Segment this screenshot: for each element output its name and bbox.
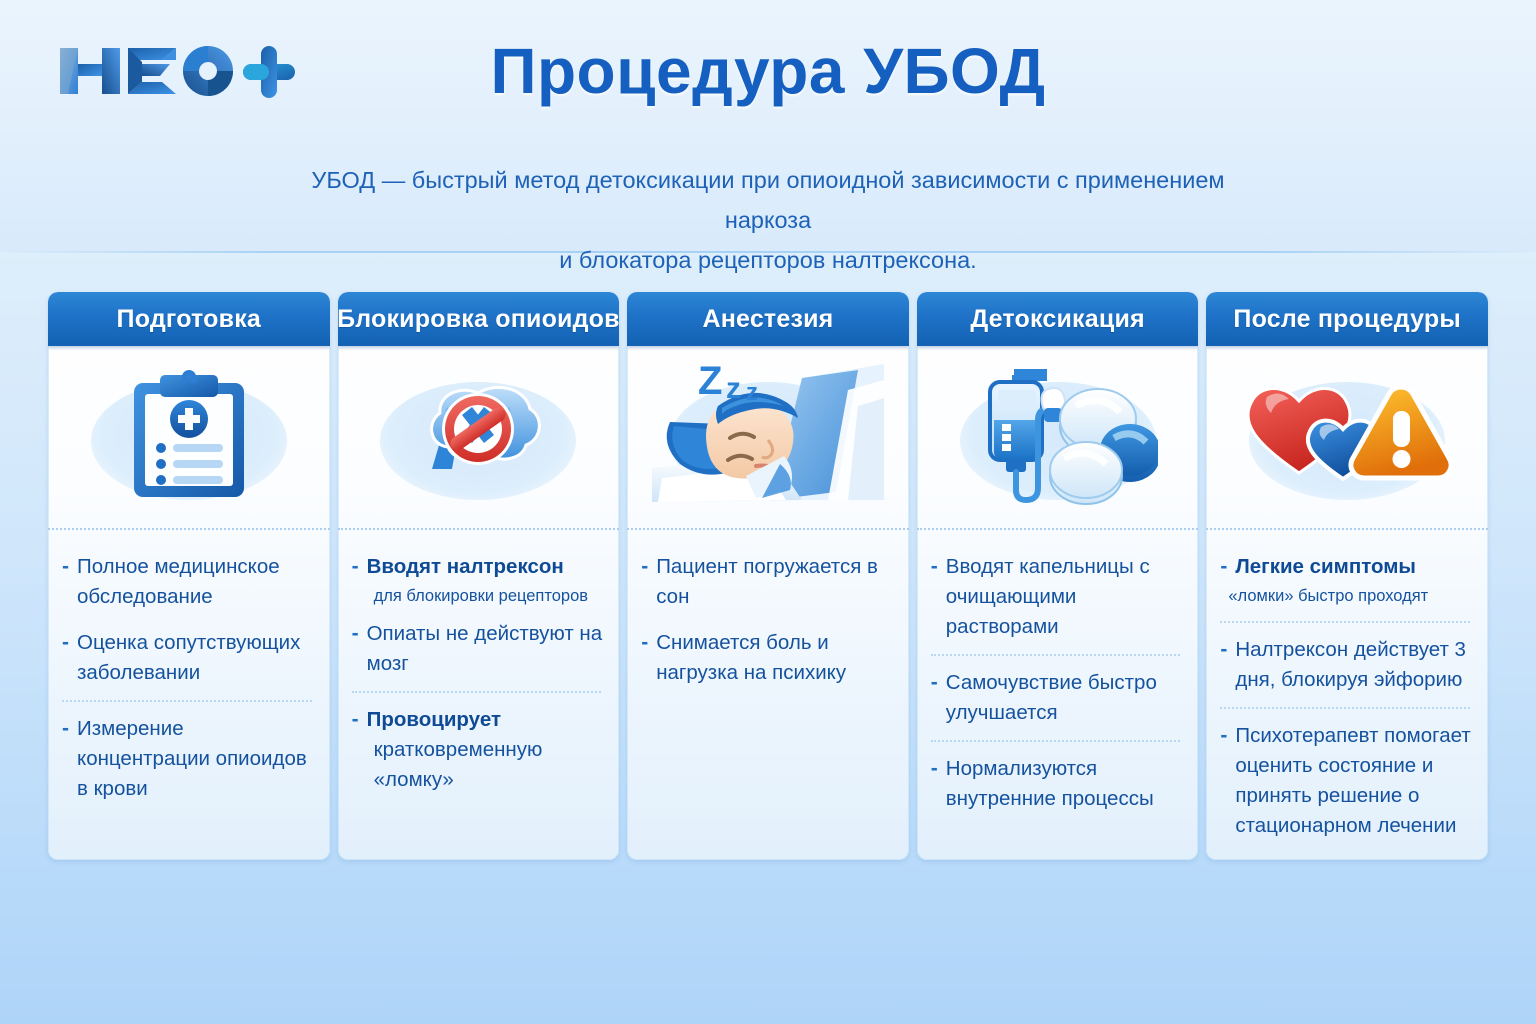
list-item: - Самочувствие быстро улучшается: [931, 668, 1183, 728]
list-item-label: Легкие симптомы: [1235, 552, 1416, 582]
bullet-dash: -: [352, 619, 359, 649]
list-item: - Вводят налтрексон: [352, 552, 604, 582]
spacer: [62, 612, 314, 628]
card-header-detoksikaciya: Детоксикация: [917, 292, 1199, 346]
svg-text:z: z: [746, 379, 758, 406]
bullet-dash: -: [62, 552, 69, 582]
list-item-subtext: для блокировки рецепторов: [374, 583, 604, 609]
card-anesteziya[interactable]: Анестезия: [627, 292, 909, 860]
card-header-posle-procedury: После процедуры: [1206, 292, 1488, 346]
card-title: Подготовка: [117, 305, 261, 334]
card-podgotovka[interactable]: Подготовка: [48, 292, 330, 860]
list-item: - Пациент погружается в сон: [641, 552, 893, 612]
list-item: - Снимается боль и нагрузка на психику: [641, 628, 893, 688]
list-item-label: Опиаты не действуют на мозг: [367, 619, 604, 679]
clipboard-medical-icon: [130, 369, 248, 506]
spacer: [641, 612, 893, 628]
item-separator: [931, 654, 1181, 656]
card-body-detoksikaciya: - Вводят капельницы с очищающими раствор…: [917, 530, 1199, 860]
bullet-dash: -: [1220, 635, 1227, 665]
list-item-label: Самочувствие быстро улучшается: [946, 668, 1183, 728]
list-item: - Опиаты не действуют на мозг: [352, 619, 604, 679]
card-title: После процедуры: [1233, 305, 1461, 334]
subtitle-line-1: УБОД — быстрый метод детоксикации при оп…: [268, 160, 1268, 240]
item-separator: [352, 691, 602, 693]
list-item-label: Психотерапевт помогает оценить состояние…: [1235, 721, 1472, 841]
card-body-blokirovka: - Вводят налтрексон для блокировки рецеп…: [338, 530, 620, 860]
item-separator: [931, 740, 1181, 742]
page-subtitle: УБОД — быстрый метод детоксикации при оп…: [268, 160, 1268, 280]
list-item-label: Вводят налтрексон: [367, 552, 564, 582]
list-item: - Налтрексон действует 3 дня, блокируя э…: [1220, 635, 1472, 695]
list-item-label: Оценка сопутствующих заболевании: [77, 628, 314, 688]
card-icon-area: [1206, 346, 1488, 528]
card-title: Анестезия: [703, 305, 834, 334]
list-item: - Вводят капельницы с очищающими раствор…: [931, 552, 1183, 642]
card-posle-procedury[interactable]: После процедуры: [1206, 292, 1488, 860]
svg-text:z: z: [726, 372, 741, 405]
bullet-dash: -: [352, 705, 359, 735]
bullet-dash: -: [1220, 552, 1227, 582]
bullet-dash: -: [62, 714, 69, 744]
list-item: - Полное медицинское обследование: [62, 552, 314, 612]
card-icon-area: [48, 346, 330, 528]
item-separator: [62, 700, 312, 702]
card-header-blokirovka: Блокировка опиоидов: [338, 292, 620, 346]
card-icon-area: [917, 346, 1199, 528]
card-title: Детоксикация: [970, 305, 1144, 334]
zzz-label: Z: [698, 360, 722, 403]
item-separator: [1220, 621, 1470, 623]
list-item-label: Провоцирует: [367, 705, 501, 735]
stage-cards-row: Подготовка: [48, 292, 1488, 860]
list-item-label: Нормализуются внутренние процессы: [946, 754, 1183, 814]
card-detoksikaciya[interactable]: Детоксикация: [917, 292, 1199, 860]
list-item-label: Налтрексон действует 3 дня, блокируя эйф…: [1235, 635, 1472, 695]
hearts-warning-icon: [1239, 371, 1455, 504]
card-blokirovka-opioidov[interactable]: Блокировка опиоидов: [338, 292, 620, 860]
bullet-dash: -: [931, 552, 938, 582]
bullet-dash: -: [641, 628, 648, 658]
card-icon-area: Z z z: [627, 346, 909, 528]
list-item: - Оценка сопутствующих заболевании: [62, 628, 314, 688]
list-item-label: Пациент погружается в сон: [656, 552, 893, 612]
bullet-dash: -: [62, 628, 69, 658]
list-item-label: Вводят капельницы с очищающими растворам…: [946, 552, 1183, 642]
list-item: - Легкие симптомы: [1220, 552, 1472, 582]
brain-blocked-icon: [394, 369, 562, 506]
card-body-posle-procedury: - Легкие симптомы «ломки» быстро проходя…: [1206, 530, 1488, 860]
page-title: Процедура УБОД: [0, 34, 1536, 108]
card-title: Блокировка опиоидов: [338, 305, 620, 334]
subtitle-line-2: и блокатора рецепторов налтрексона.: [268, 240, 1268, 280]
list-item-subtext: «ломки» быстро проходят: [1228, 583, 1472, 609]
bullet-dash: -: [931, 668, 938, 698]
card-body-podgotovka: - Полное медицинское обследование - Оцен…: [48, 530, 330, 860]
card-header-anesteziya: Анестезия: [627, 292, 909, 346]
iv-drip-pills-icon: [958, 364, 1158, 511]
list-item-label: Полное медицинское обследование: [77, 552, 314, 612]
list-item-label: Снимается боль и нагрузка на психику: [656, 628, 893, 688]
list-item-continuation: кратковременную «ломку»: [374, 735, 604, 795]
bullet-dash: -: [641, 552, 648, 582]
list-item: - Измерение концентрации опиоидов в кров…: [62, 714, 314, 804]
spacer: [352, 609, 604, 619]
card-body-anesteziya: - Пациент погружается в сон - Снимается …: [627, 530, 909, 860]
item-separator: [1220, 707, 1470, 709]
bullet-dash: -: [352, 552, 359, 582]
list-item: - Нормализуются внутренние процессы: [931, 754, 1183, 814]
list-item: - Провоцирует: [352, 705, 604, 735]
card-header-podgotovka: Подготовка: [48, 292, 330, 346]
list-item-label: Измерение концентрации опиоидов в крови: [77, 714, 314, 804]
bullet-dash: -: [931, 754, 938, 784]
card-icon-area: [338, 346, 620, 528]
list-item: - Психотерапевт помогает оценить состоян…: [1220, 721, 1472, 841]
sleeping-patient-icon: Z z z: [652, 360, 884, 515]
bullet-dash: -: [1220, 721, 1227, 751]
